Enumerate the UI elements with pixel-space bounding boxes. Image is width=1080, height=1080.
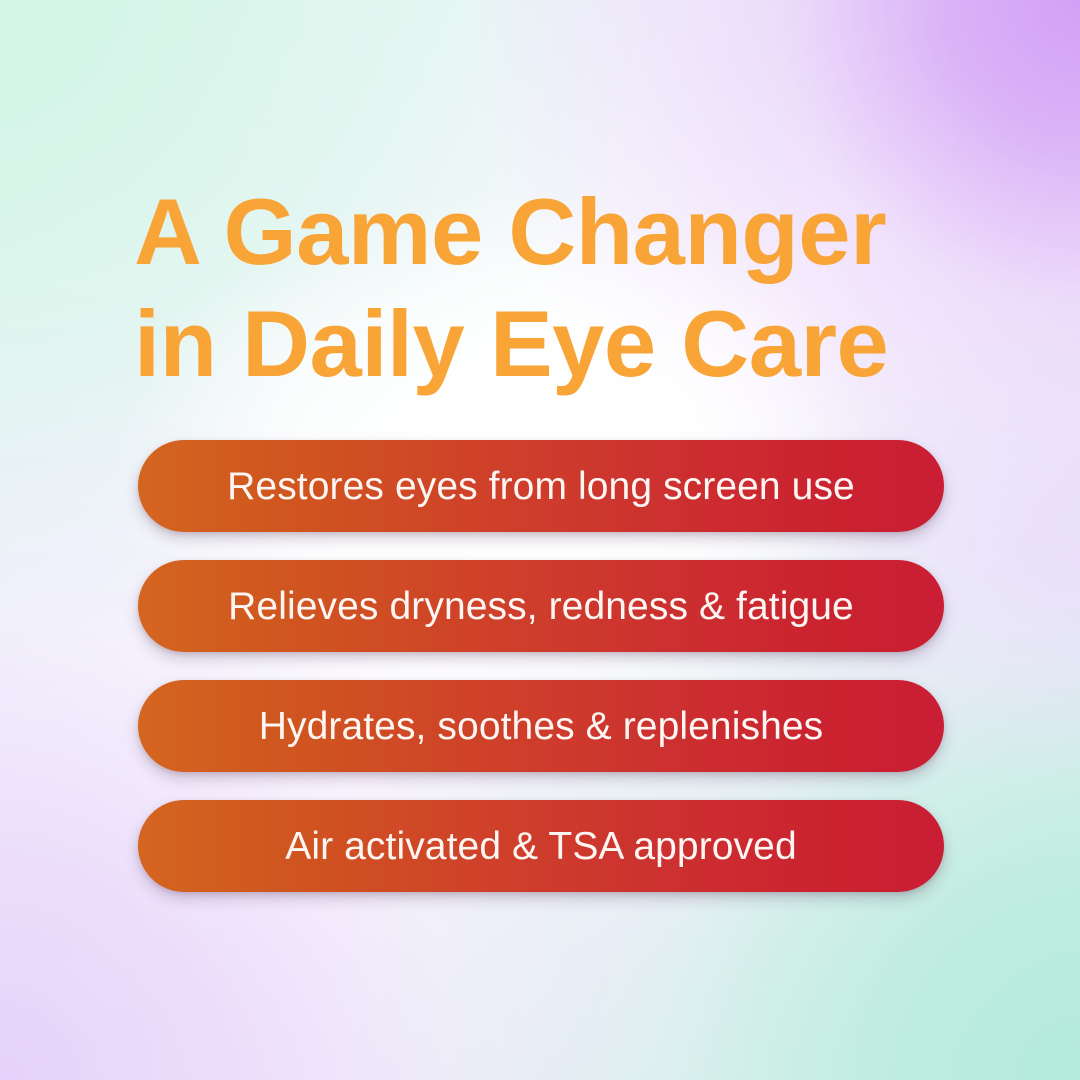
headline-line-1: A Game Changer <box>134 176 964 288</box>
benefit-pill-label: Air activated & TSA approved <box>285 827 797 866</box>
benefit-pill-2: Relieves dryness, redness & fatigue <box>138 560 944 652</box>
benefit-pill-label: Relieves dryness, redness & fatigue <box>228 587 854 626</box>
poster-content: A Game Changer in Daily Eye Care Restore… <box>0 0 1080 1080</box>
promo-poster: A Game Changer in Daily Eye Care Restore… <box>0 0 1080 1080</box>
page-title: A Game Changer in Daily Eye Care <box>134 176 964 400</box>
benefit-pill-1: Restores eyes from long screen use <box>138 440 944 532</box>
benefit-pill-4: Air activated & TSA approved <box>138 800 944 892</box>
benefit-pill-3: Hydrates, soothes & replenishes <box>138 680 944 772</box>
benefit-pill-label: Hydrates, soothes & replenishes <box>259 707 824 746</box>
benefit-pill-list: Restores eyes from long screen use Relie… <box>138 440 944 892</box>
headline-line-2: in Daily Eye Care <box>134 288 964 400</box>
benefit-pill-label: Restores eyes from long screen use <box>227 467 855 506</box>
